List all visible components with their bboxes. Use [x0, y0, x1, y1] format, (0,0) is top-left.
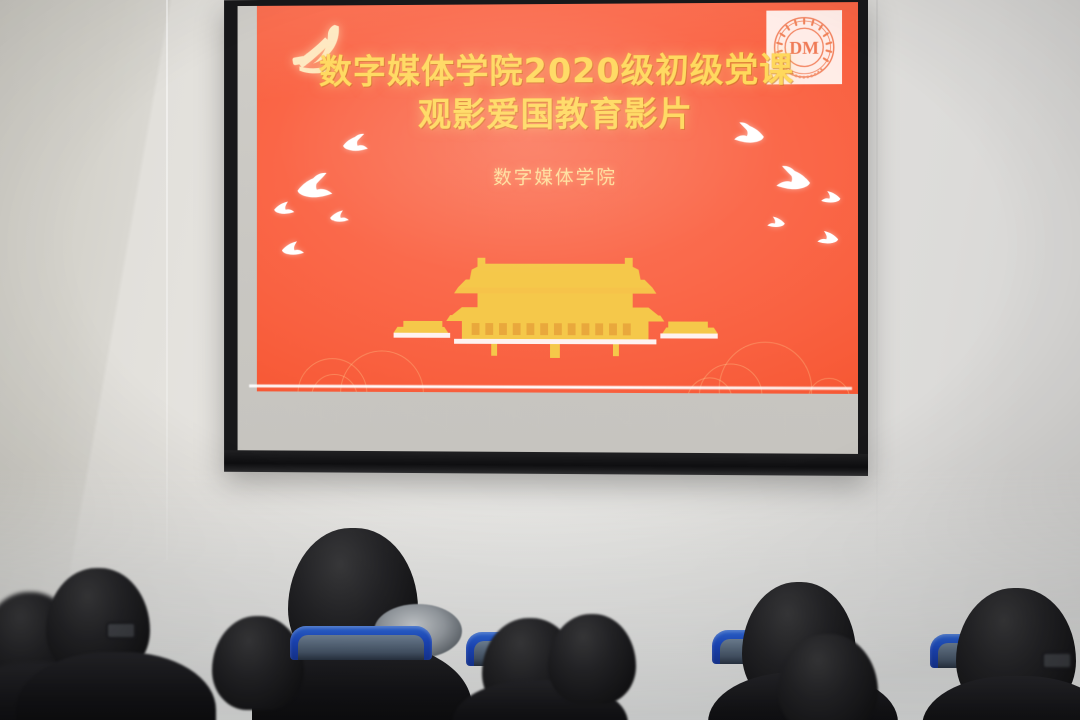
- projected-slide: DM: [257, 2, 858, 394]
- dove-icon: [820, 188, 842, 206]
- tiananmen-gate-illustration: [394, 244, 718, 364]
- dove-icon: [766, 214, 786, 230]
- dove-icon: [272, 199, 295, 218]
- slide-subtitle: 数字媒体学院: [257, 162, 858, 190]
- eyeglasses-icon: [106, 622, 136, 639]
- slide-title-line-2: 观影爱国教育影片: [257, 92, 858, 138]
- dove-icon: [816, 228, 840, 247]
- audience-head: [212, 616, 304, 710]
- slide-title-line-1: 数字媒体学院2020级初级党课: [257, 48, 858, 94]
- projection-screen-frame: DM: [224, 0, 868, 476]
- eyeglasses-icon: [1042, 652, 1072, 669]
- photo-scene: DM: [0, 0, 1080, 720]
- audience-silhouettes: [0, 530, 1080, 720]
- slide-title-block: 数字媒体学院2020级初级党课 观影爱国教育影片: [257, 48, 858, 138]
- chair-back: [290, 626, 432, 660]
- dove-icon: [329, 207, 350, 225]
- projection-screen-surface: DM: [238, 2, 858, 454]
- audience-head: [548, 614, 636, 704]
- audience-shoulders: [922, 676, 1080, 720]
- chair-seat-panel: [298, 635, 424, 660]
- dove-icon: [280, 238, 305, 259]
